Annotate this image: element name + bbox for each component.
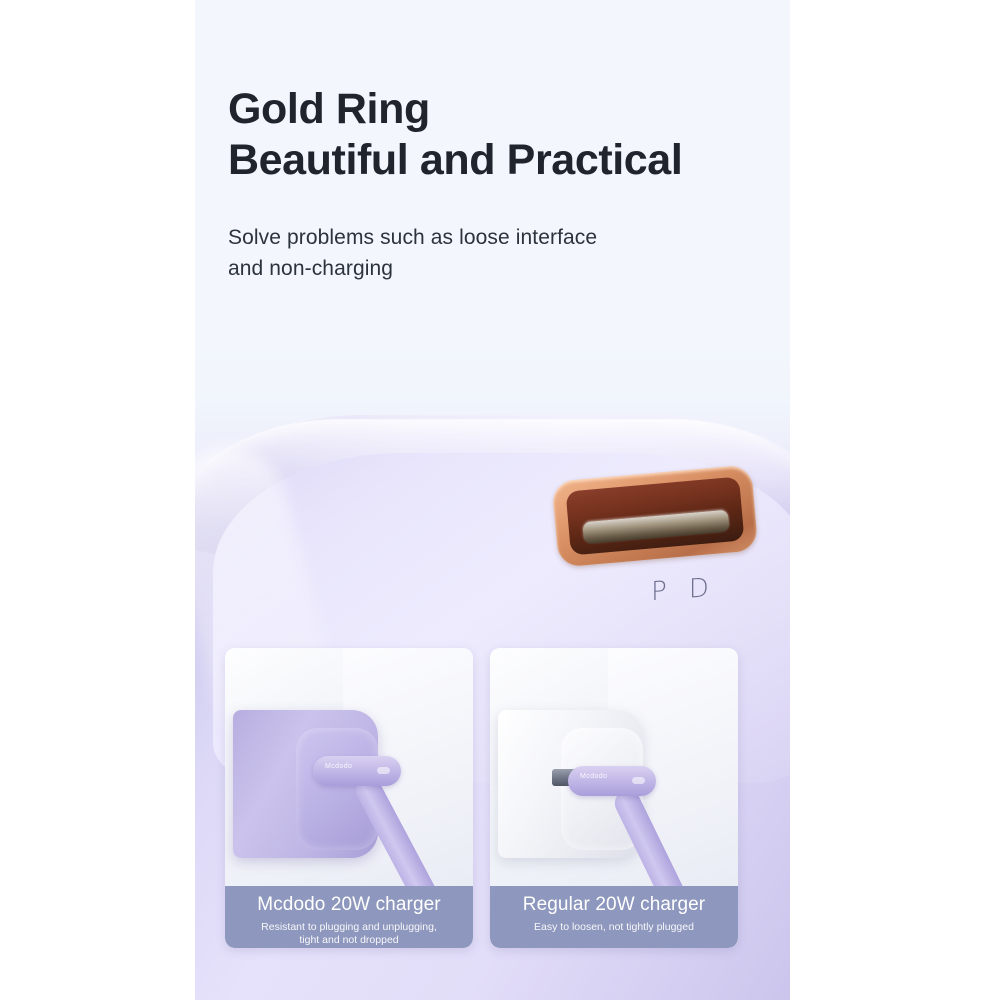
cable-connector: Mcdodo <box>313 756 401 786</box>
comparison-card-mcdodo: Mcdodo Mcdodo 20W charger Resistant to p… <box>225 648 473 948</box>
copy-block: Gold Ring Beautiful and Practical Solve … <box>228 84 768 284</box>
pd-marking: P D <box>651 573 716 608</box>
subtitle-line-1: Solve problems such as loose interface <box>228 226 597 249</box>
caption-subtitle: Easy to loosen, not tightly plugged <box>500 921 728 934</box>
content-panel: Gold Ring Beautiful and Practical Solve … <box>195 0 790 1000</box>
caption-subtitle: Resistant to plugging and unplugging, ti… <box>235 921 463 948</box>
connector-brand-label: Mcdodo <box>580 773 607 780</box>
caption-sub-line-2: tight and not dropped <box>235 934 463 947</box>
caption-title: Mcdodo 20W charger <box>235 895 463 916</box>
headline-line-2: Beautiful and Practical <box>228 135 768 186</box>
comparison-section: Mcdodo Mcdodo 20W charger Resistant to p… <box>225 648 755 948</box>
caption-sub-line-1: Resistant to plugging and unplugging, <box>261 921 437 933</box>
product-marketing-image: Gold Ring Beautiful and Practical Solve … <box>0 0 1000 1000</box>
headline-line-1: Gold Ring <box>228 85 430 133</box>
cable-connector: Mcdodo <box>568 766 656 796</box>
connector-brand-label: Mcdodo <box>325 763 352 770</box>
usb-c-port <box>552 464 759 567</box>
card-caption: Mcdodo 20W charger Resistant to plugging… <box>225 886 473 948</box>
caption-sub-line-1: Easy to loosen, not tightly plugged <box>534 921 694 933</box>
port-tongue <box>582 510 729 544</box>
caption-title: Regular 20W charger <box>500 895 728 916</box>
card-caption: Regular 20W charger Easy to loosen, not … <box>490 886 738 948</box>
subtitle-line-2: and non-charging <box>228 254 768 284</box>
subtitle: Solve problems such as loose interface a… <box>228 223 768 284</box>
page-title: Gold Ring Beautiful and Practical <box>228 84 768 185</box>
comparison-card-regular: Mcdodo Regular 20W charger Easy to loose… <box>490 648 738 948</box>
